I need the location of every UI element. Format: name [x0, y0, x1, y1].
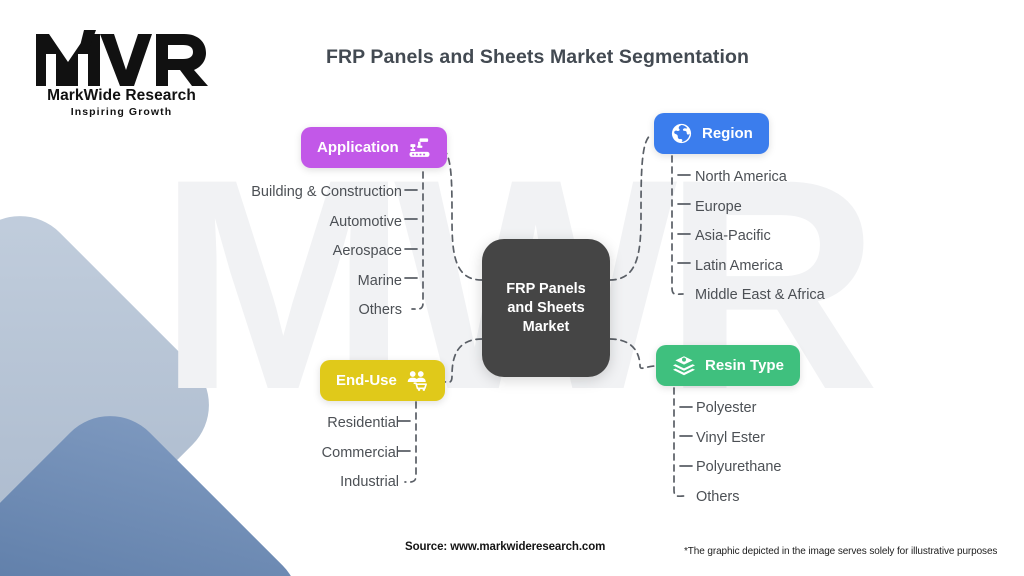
- leaf-list-resin-type: Polyester Vinyl Ester Polyurethane Other…: [696, 394, 1016, 512]
- branch-label-application: Application: [317, 139, 399, 156]
- layers-stack-icon: [672, 354, 696, 378]
- spine-application: [412, 150, 423, 309]
- leaf-item[interactable]: Middle East & Africa: [695, 281, 1015, 311]
- link-center-resin: [610, 339, 656, 368]
- leaf-item[interactable]: Latin America: [695, 252, 1015, 282]
- leaf-item[interactable]: Polyester: [696, 394, 1016, 424]
- leaf-item[interactable]: Residential: [0, 409, 399, 439]
- leaf-item[interactable]: Others: [696, 483, 1016, 513]
- leaf-item[interactable]: Aerospace: [0, 237, 402, 267]
- spine-enduse: [405, 402, 416, 482]
- leaf-item[interactable]: Commercial: [0, 439, 399, 469]
- leaf-item[interactable]: Europe: [695, 193, 1015, 223]
- spine-region: [672, 156, 683, 294]
- leaf-item[interactable]: North America: [695, 163, 1015, 193]
- factory-machine-icon: [408, 136, 431, 159]
- branch-label-region: Region: [702, 125, 753, 142]
- people-cart-icon: [406, 369, 429, 392]
- link-center-region: [610, 135, 651, 280]
- branch-pill-region[interactable]: Region: [654, 113, 769, 154]
- infographic-canvas: MWR MarkWide Research Inspiring Growth F…: [0, 0, 1024, 576]
- leaf-item[interactable]: Building & Construction: [0, 178, 402, 208]
- center-node-label: FRP Panels and Sheets Market: [498, 280, 594, 337]
- branch-pill-application[interactable]: Application: [301, 127, 447, 168]
- leaf-item[interactable]: Vinyl Ester: [696, 424, 1016, 454]
- leaf-item[interactable]: Polyurethane: [696, 453, 1016, 483]
- leaf-item[interactable]: Industrial: [0, 468, 399, 498]
- branch-label-end-use: End-Use: [336, 372, 397, 389]
- leaf-item[interactable]: Automotive: [0, 208, 402, 238]
- globe-icon: [670, 122, 693, 145]
- center-node[interactable]: FRP Panels and Sheets Market: [482, 239, 610, 377]
- leaf-item[interactable]: Others: [0, 296, 402, 326]
- link-center-application: [441, 148, 482, 280]
- branch-pill-end-use[interactable]: End-Use: [320, 360, 445, 401]
- leaf-list-application: Building & Construction Automotive Aeros…: [0, 178, 402, 326]
- branch-pill-resin-type[interactable]: Resin Type: [656, 345, 800, 386]
- branch-label-resin-type: Resin Type: [705, 357, 784, 374]
- leaf-item[interactable]: Marine: [0, 267, 402, 297]
- source-label: Source: www.markwideresearch.com: [405, 541, 605, 553]
- leaf-list-region: North America Europe Asia-Pacific Latin …: [695, 163, 1015, 311]
- leaf-item[interactable]: Asia-Pacific: [695, 222, 1015, 252]
- spine-resin: [674, 388, 685, 496]
- leaf-list-end-use: Residential Commercial Industrial: [0, 409, 399, 498]
- disclaimer-label: *The graphic depicted in the image serve…: [684, 546, 997, 557]
